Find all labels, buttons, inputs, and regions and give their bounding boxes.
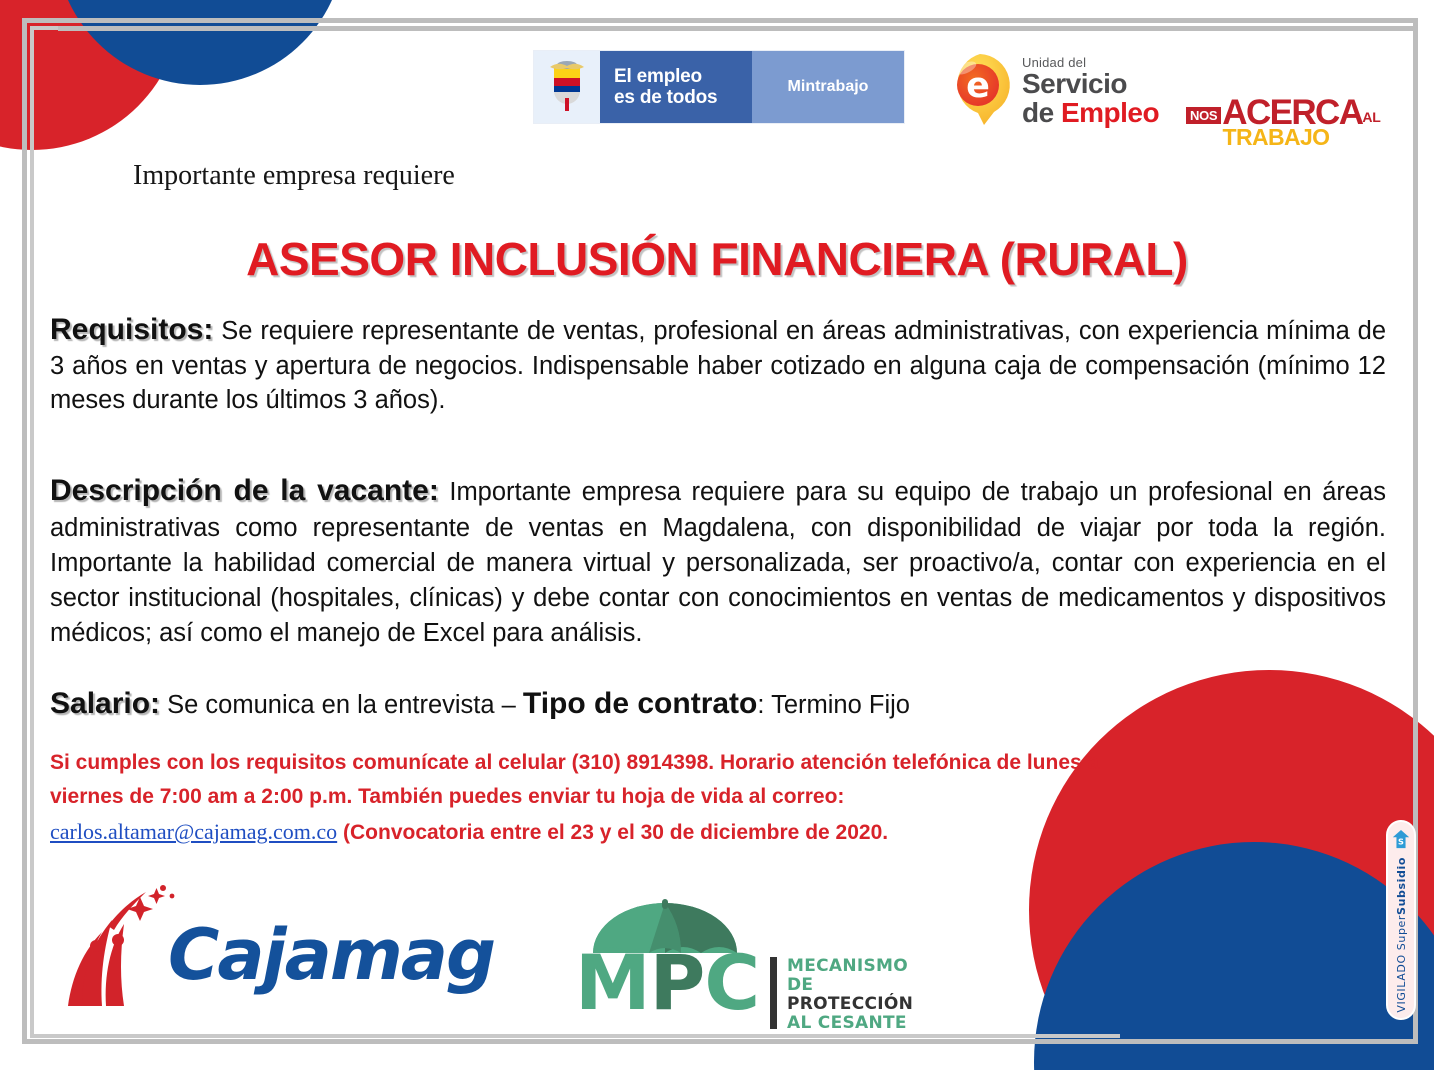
contacto-text: Si cumples con los requisitos comunícate… [50, 746, 1230, 850]
sse-de: de [1022, 97, 1061, 128]
convocatoria-text: (Convocatoria entre el 23 y el 30 de dic… [337, 821, 888, 844]
mintrabajo-cell: Mintrabajo [752, 51, 904, 123]
gov-slogan-line2: es de todos [614, 87, 752, 108]
mpc-tag-line3: AL CESANTE [787, 1014, 913, 1033]
gov-slogan: El empleo es de todos [600, 51, 752, 123]
colombia-coat-of-arms-icon [534, 51, 600, 123]
mpc-wordmark: MPC [575, 953, 759, 1014]
tipo-contrato-label: Tipo de contrato [523, 687, 757, 720]
sse-line-de-empleo: de Empleo [1022, 99, 1159, 127]
gobierno-colombia-logo: El empleo es de todos Mintrabajo [534, 51, 904, 123]
contacto-section: Si cumples con los requisitos comunícate… [50, 746, 1230, 850]
intro-line: Importante empresa requiere [133, 160, 455, 192]
supersubsidio-shield-icon: S [1391, 829, 1411, 851]
sse-line-servicio: Servicio [1022, 70, 1159, 98]
mpc-letter-p: P [650, 938, 705, 1027]
vigilado-bold: Subsidio [1395, 857, 1408, 915]
mpc-tagline: MECANISMO DE PROTECCIÓN AL CESANTE [787, 957, 913, 1033]
cajamag-figures-stars-icon [60, 884, 178, 1012]
mpc-tag-line2: PROTECCIÓN [787, 995, 913, 1014]
descripcion-paragraph: Descripción de la vacante: Importante em… [50, 470, 1386, 651]
mpc-tag-line1: MECANISMO DE [787, 957, 913, 995]
mintrabajo-label: Mintrabajo [788, 78, 869, 96]
salario-text: Se comunica en la entrevista – [167, 691, 523, 719]
requisitos-section: Requisitos: Se requiere representante de… [50, 310, 1386, 418]
sse-empleo: Empleo [1061, 97, 1159, 128]
contacto-line-1: Si cumples con los requisitos comunícate… [50, 746, 1230, 780]
salario-section: Salario: Se comunica en la entrevista – … [50, 686, 1386, 722]
email-link[interactable]: carlos.altamar@cajamag.com.co [50, 819, 337, 844]
descripcion-section: Descripción de la vacante: Importante em… [50, 470, 1386, 651]
vigilado-prefix: VIGILADO Super [1395, 915, 1408, 1013]
acerca-nos-label: NOS [1186, 107, 1221, 124]
contacto-line-3: carlos.altamar@cajamag.com.co (Convocato… [50, 814, 1230, 850]
mpc-letter-c: C [704, 938, 759, 1027]
servicio-empleo-wordmark: Unidad del Servicio de Empleo [1022, 56, 1159, 127]
cajamag-logo: Cajamag [60, 884, 450, 1012]
acerca-al-label: AL [1362, 110, 1380, 124]
descripcion-label: Descripción de la vacante: [50, 474, 439, 507]
vigilado-label: VIGILADO SuperSubsidio [1395, 857, 1408, 1013]
contacto-line-2: viernes de 7:00 am a 2:00 p.m. También p… [50, 780, 1230, 814]
mpc-divider [770, 957, 777, 1029]
nos-acerca-al-trabajo-logo: NOS ACERCA AL TRABAJO [1186, 92, 1366, 154]
svg-text:e: e [966, 66, 990, 106]
requisitos-text: Se requiere representante de ventas, pro… [50, 317, 1386, 414]
tipo-contrato-value: : Termino Fijo [757, 691, 910, 719]
vigilado-supersubsidio-badge: S VIGILADO SuperSubsidio [1386, 820, 1416, 1020]
svg-text:S: S [1398, 837, 1404, 847]
e-pin-icon: e [944, 52, 1016, 126]
gov-slogan-line1: El empleo [614, 66, 752, 87]
page-title: ASESOR INCLUSIÓN FINANCIERA (RURAL) [0, 232, 1434, 286]
header-logo-bar: El empleo es de todos Mintrabajo [0, 44, 1434, 136]
cajamag-wordmark: Cajamag [168, 914, 494, 996]
servicio-de-empleo-logo: e Unidad del Servicio de Empleo [944, 46, 1170, 130]
acerca-top-row: NOS ACERCA AL [1186, 92, 1366, 128]
salario-line: Salario: Se comunica en la entrevista – … [50, 686, 1386, 722]
requisitos-paragraph: Requisitos: Se requiere representante de… [50, 310, 1386, 418]
requisitos-label: Requisitos: [50, 313, 213, 346]
mpc-logo: MPC MECANISMO DE PROTECCIÓN AL CESANTE [565, 895, 860, 1043]
frame-top-line [58, 26, 1418, 31]
mpc-letter-m: M [575, 938, 650, 1027]
salario-label: Salario: [50, 687, 160, 720]
flyer-page: El empleo es de todos Mintrabajo [0, 0, 1434, 1070]
